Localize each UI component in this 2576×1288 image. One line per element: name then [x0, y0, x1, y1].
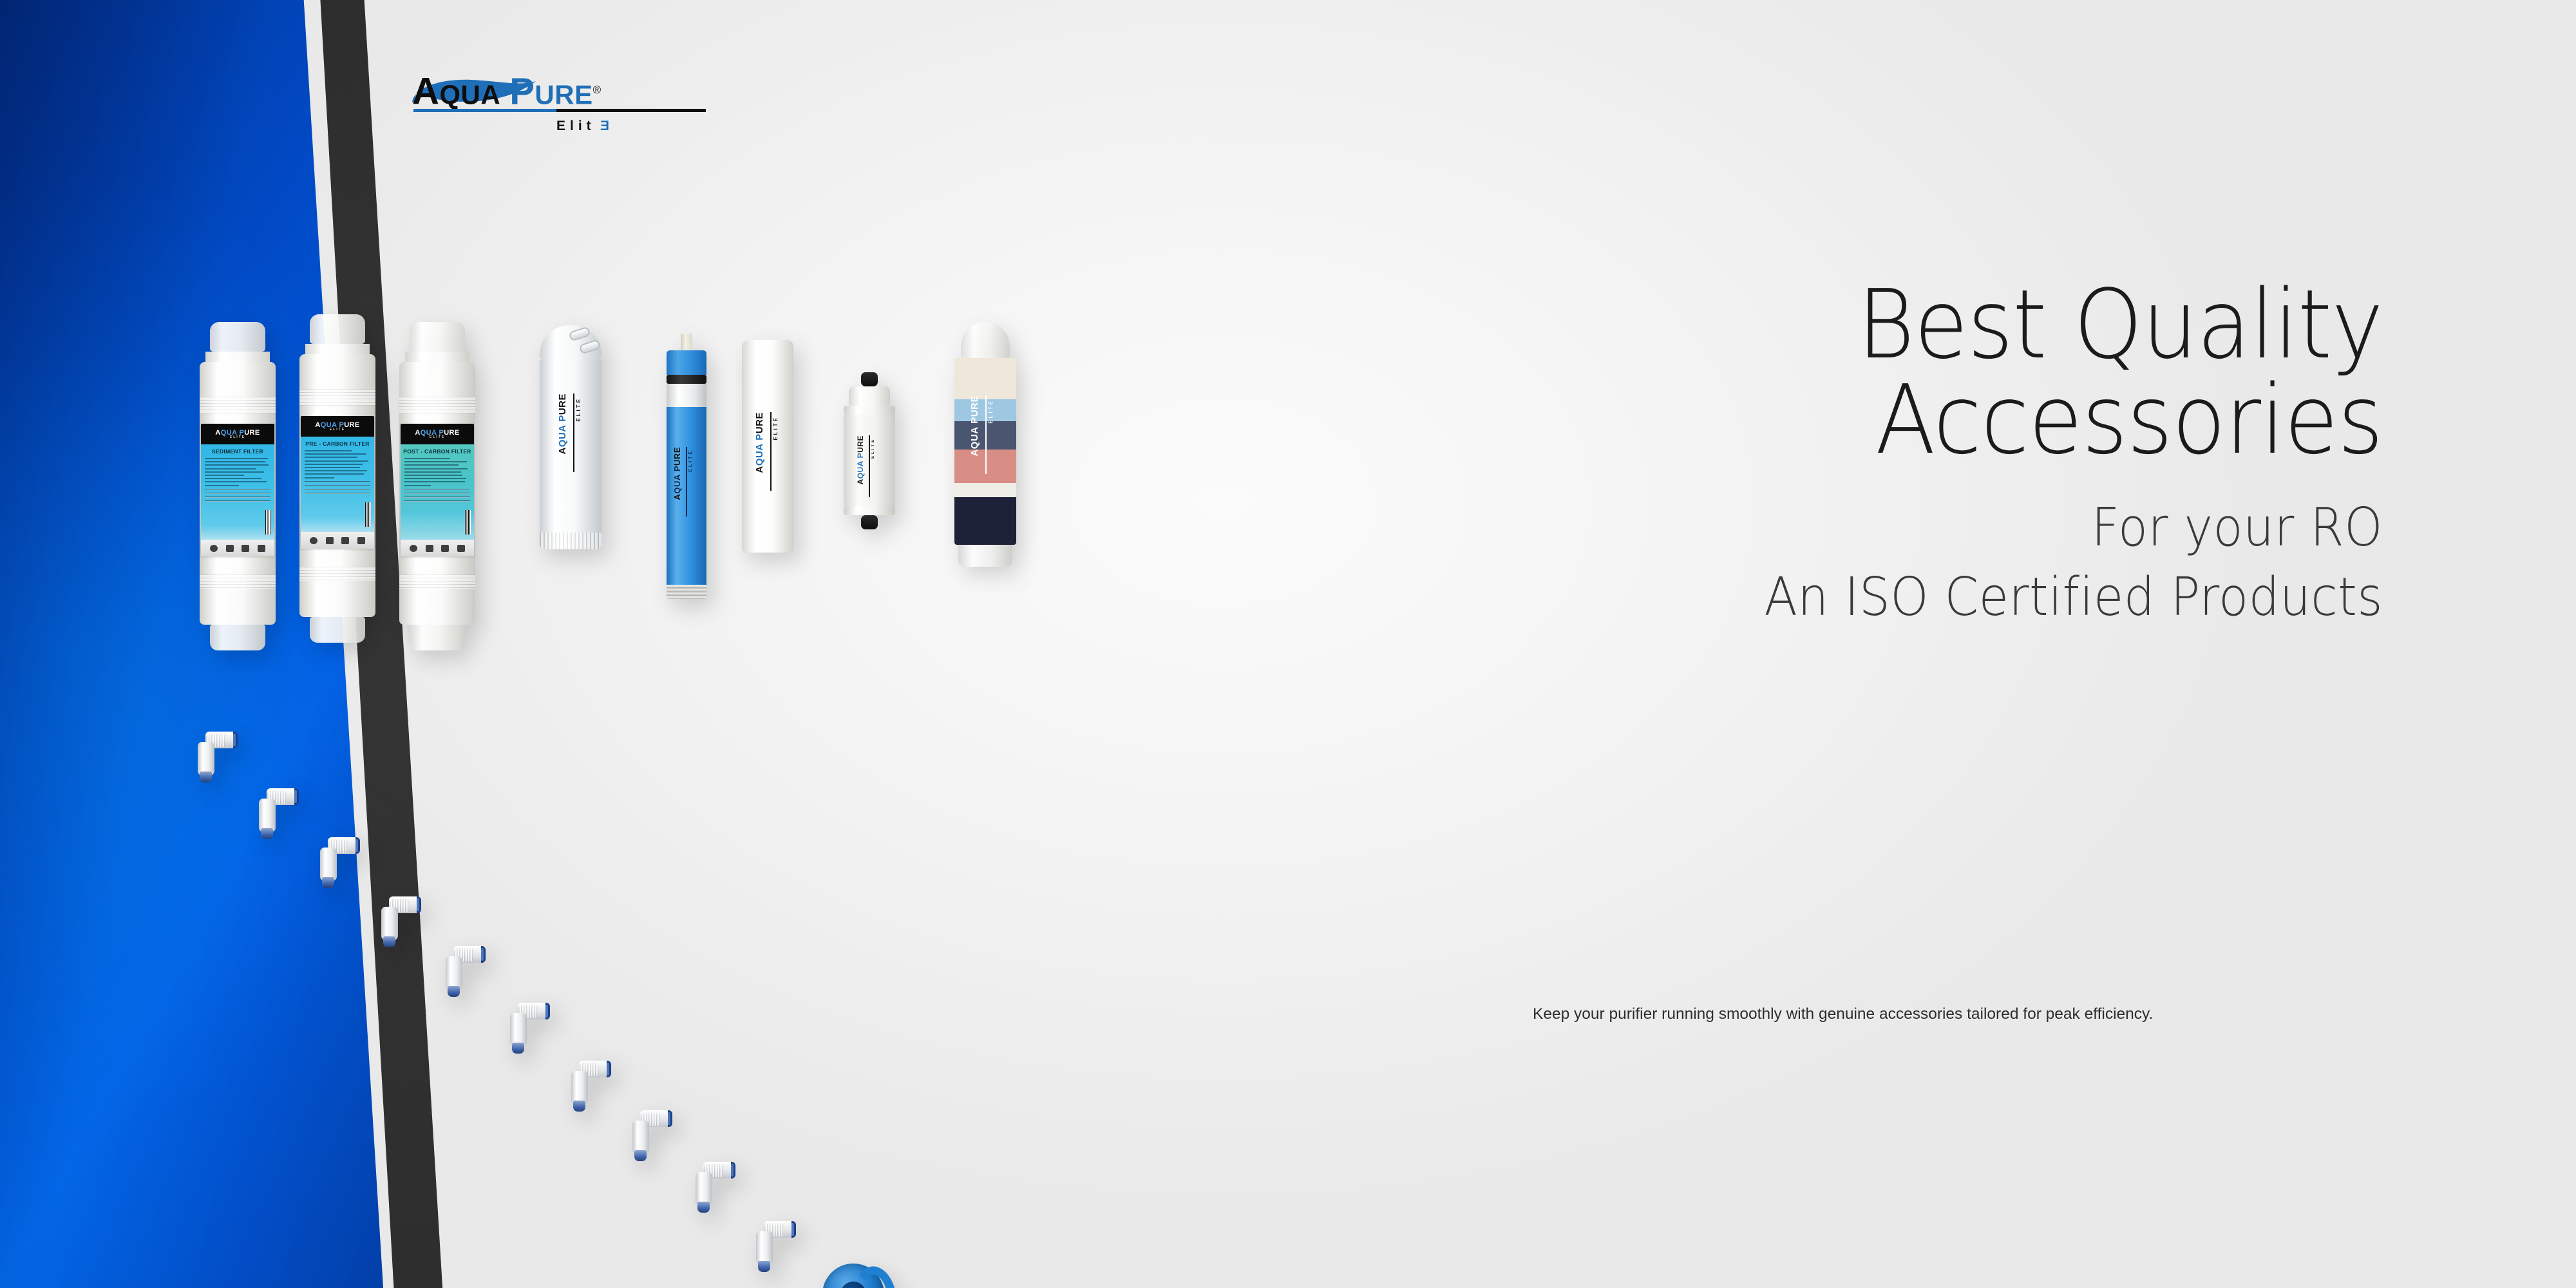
inline-top-cap	[849, 386, 890, 406]
subheadline-line-1: For your RO	[1376, 493, 2383, 563]
cartridge-base	[200, 589, 276, 625]
cartridge-bottom-cap	[310, 617, 365, 643]
spun-brand-text: AQUA PURE	[755, 412, 764, 473]
subheadline-line-2: An ISO Certified Products	[1376, 563, 2383, 632]
ro-membrane[interactable]: AQUA PURE ELITE	[667, 334, 706, 599]
page-title: Best Quality Accessories	[1376, 277, 2383, 468]
membrane-permeate-stem	[681, 334, 692, 350]
housing-elite-text: ELITE	[576, 397, 582, 422]
cartridge-bottom-cap	[210, 625, 265, 650]
label-description-lines	[201, 455, 274, 486]
mineral-base	[958, 545, 1012, 567]
mineral-cartridge[interactable]: AQUA PURE ELITE	[954, 322, 1016, 567]
cartridge-shoulder	[299, 354, 375, 389]
pre-carbon-filter-cartridge[interactable]: AQUA PUREELITE PRE - CARBON FILTER	[299, 314, 375, 643]
label-barcode	[265, 510, 271, 535]
connector-tip	[512, 1043, 524, 1054]
label-description-lines	[301, 447, 374, 478]
cartridge-shoulder	[399, 362, 475, 397]
label-content: PRE - CARBON FILTER	[301, 437, 374, 549]
cartridge-body: AQUA PUREELITE PRE - CARBON FILTER	[299, 406, 375, 567]
spun-elite-text: ELITE	[773, 416, 779, 440]
cartridge-label: AQUA PUREELITE SEDIMENT FILTER	[201, 424, 274, 556]
inline-brand-rule	[869, 435, 870, 497]
elbow-connector[interactable]	[694, 1162, 737, 1216]
elbow-connector[interactable]	[570, 1061, 612, 1115]
cartridge-ribs-upper	[299, 389, 375, 406]
connector-tip	[697, 1202, 710, 1213]
supporting-paragraph: Keep your purifier running smoothly with…	[1533, 1001, 2402, 1027]
headline-line-2: Accessories	[1376, 372, 2383, 468]
elbow-connector[interactable]	[509, 1003, 551, 1057]
label-brand-text: AQUA PUREELITE	[315, 421, 359, 431]
connector-stem	[632, 1121, 649, 1154]
animal-mark-icon	[357, 537, 365, 544]
connector-tip	[634, 1150, 647, 1161]
label-spec-table	[205, 489, 270, 502]
mineral-layer-1	[954, 358, 1016, 399]
water-quality-icon	[326, 537, 334, 544]
label-brand-header: AQUA PUREELITE	[201, 424, 274, 444]
membrane-body: AQUA PURE ELITE	[667, 407, 706, 585]
animal-mark-icon	[457, 545, 465, 552]
animal-mark-icon	[258, 545, 265, 552]
inline-bottom-nozzle	[861, 515, 878, 529]
cartridge-top-cap	[210, 322, 265, 352]
cartridge-label: AQUA PUREELITE POST - CARBON FILTER	[401, 424, 474, 556]
housing-dome	[540, 325, 601, 360]
membrane-o-ring	[667, 375, 706, 384]
connector-stem	[510, 1013, 527, 1046]
elbow-connector[interactable]	[755, 1221, 797, 1275]
cartridge-ribs-lower	[200, 574, 276, 589]
elbow-connector[interactable]	[631, 1110, 674, 1164]
connector-stem	[756, 1231, 773, 1265]
housing-port-outlet	[578, 339, 601, 354]
housing-bottom-collar	[540, 533, 601, 549]
spun-filter-cartridge[interactable]: AQUA PURE ELITE	[742, 340, 793, 553]
label-brand-text: AQUA PUREELITE	[215, 429, 260, 439]
label-spec-table	[404, 489, 470, 502]
cartridge-top-cap	[410, 322, 465, 352]
teflon-tape-roll[interactable]	[808, 1264, 905, 1288]
connector-stem	[446, 956, 462, 990]
headline-line-1: Best Quality	[1857, 269, 2383, 380]
subheadline: For your RO An ISO Certified Products	[1376, 493, 2383, 632]
label-content: POST - CARBON FILTER	[401, 444, 474, 556]
iso-mark-icon	[210, 545, 218, 552]
cartridge-ribs-lower	[399, 574, 475, 589]
cartridge-bottom-cap	[410, 625, 465, 650]
label-brand-header: AQUA PUREELITE	[301, 416, 374, 437]
label-brand-header: AQUA PUREELITE	[401, 424, 474, 444]
cartridge-neck	[205, 352, 270, 362]
elbow-connector[interactable]	[319, 837, 361, 891]
connector-stem	[198, 742, 214, 775]
cartridge-body: AQUA PUREELITE POST - CARBON FILTER	[399, 413, 475, 574]
elbow-connector[interactable]	[258, 788, 300, 842]
connector-tip	[573, 1101, 585, 1112]
membrane-top	[667, 350, 706, 375]
membrane-bottom-seal	[667, 585, 706, 599]
ro-membrane-housing[interactable]: AQUA PURE ELITE	[540, 325, 601, 549]
iso-mark-icon	[410, 545, 417, 552]
cartridge-label: AQUA PUREELITE PRE - CARBON FILTER	[301, 416, 374, 549]
cartridge-ribs-upper	[399, 397, 475, 413]
lab-tested-icon	[241, 545, 249, 552]
inline-top-nozzle	[861, 372, 878, 386]
cartridge-neck	[305, 344, 370, 354]
headline-block: Best Quality Accessories For your RO An …	[1288, 277, 2383, 632]
cartridge-ribs-lower	[299, 567, 375, 581]
connector-tip	[383, 936, 395, 947]
mineral-brand-text: AQUA PURE	[970, 395, 980, 457]
inline-body: AQUA PURE ELITE	[844, 415, 895, 506]
elbow-connector[interactable]	[196, 732, 239, 786]
cartridge-body: AQUA PUREELITE SEDIMENT FILTER	[200, 413, 276, 574]
cartridge-base	[399, 589, 475, 625]
cartridge-neck	[405, 352, 469, 362]
connector-tip	[758, 1261, 770, 1272]
connector-stem	[696, 1172, 712, 1206]
mineral-dome	[961, 322, 1010, 358]
connector-stem	[320, 848, 337, 881]
label-certification-icons	[401, 540, 474, 556]
housing-body: AQUA PURE ELITE	[540, 360, 601, 533]
spun-filter-body: AQUA PURE ELITE	[742, 340, 793, 553]
housing-brand-text: AQUA PURE	[558, 393, 567, 455]
connector-stem	[571, 1071, 588, 1104]
label-spec-table	[305, 481, 370, 494]
banner-canvas: AQUAPURE® ElitE AQUA PUREELITE SEDIMEN	[0, 0, 2576, 1288]
housing-port-inlet	[568, 326, 591, 341]
label-certification-icons	[301, 532, 374, 549]
water-quality-icon	[226, 545, 234, 552]
mineral-layer-6	[954, 497, 1016, 545]
cartridge-top-cap	[310, 314, 365, 344]
label-product-name: POST - CARBON FILTER	[401, 444, 474, 455]
lab-tested-icon	[341, 537, 349, 544]
product-collage: AQUA PUREELITE SEDIMENT FILTER	[0, 0, 1127, 1288]
membrane-white-band	[667, 384, 706, 407]
label-certification-icons	[201, 540, 274, 556]
mineral-layer-5	[954, 483, 1016, 497]
membrane-brand-text: AQUA PURE	[673, 447, 681, 500]
cartridge-ribs-upper	[200, 397, 276, 413]
post-carbon-filter-cartridge[interactable]: AQUA PUREELITE POST - CARBON FILTER	[399, 322, 475, 650]
label-product-name: SEDIMENT FILTER	[201, 444, 274, 455]
connector-tip	[200, 772, 212, 782]
membrane-brand-rule	[686, 447, 687, 516]
membrane-elite-text: ELITE	[688, 450, 693, 472]
cartridge-shoulder	[200, 362, 276, 397]
elbow-connector[interactable]	[380, 896, 422, 951]
connector-tip	[322, 877, 334, 888]
label-barcode	[365, 502, 371, 527]
cartridge-base	[299, 581, 375, 617]
housing-brand-rule	[573, 393, 574, 472]
mineral-elite-text: ELITE	[988, 399, 994, 424]
label-brand-text: AQUA PUREELITE	[415, 429, 459, 439]
label-barcode	[465, 510, 471, 535]
label-description-lines	[401, 455, 474, 486]
inline-filter[interactable]: AQUA PURE ELITE	[844, 372, 895, 529]
elbow-connector[interactable]	[444, 946, 487, 1000]
spun-brand-rule	[770, 412, 772, 491]
inline-bottom-collar	[844, 506, 895, 515]
label-content: SEDIMENT FILTER	[201, 444, 274, 556]
connector-stem	[259, 799, 276, 832]
iso-mark-icon	[310, 537, 317, 544]
lab-tested-icon	[441, 545, 449, 552]
inline-elite-text: ELITE	[871, 438, 875, 459]
mineral-brand-rule	[985, 395, 987, 474]
inline-brand-text: AQUA PURE	[857, 435, 864, 485]
label-product-name: PRE - CARBON FILTER	[301, 437, 374, 447]
mineral-media-column: AQUA PURE ELITE	[954, 358, 1016, 545]
inline-collar	[844, 406, 895, 415]
connector-tip	[261, 828, 273, 839]
connector-stem	[381, 907, 398, 940]
sediment-filter-cartridge[interactable]: AQUA PUREELITE SEDIMENT FILTER	[200, 322, 276, 650]
water-quality-icon	[426, 545, 433, 552]
connector-tip	[448, 986, 460, 997]
